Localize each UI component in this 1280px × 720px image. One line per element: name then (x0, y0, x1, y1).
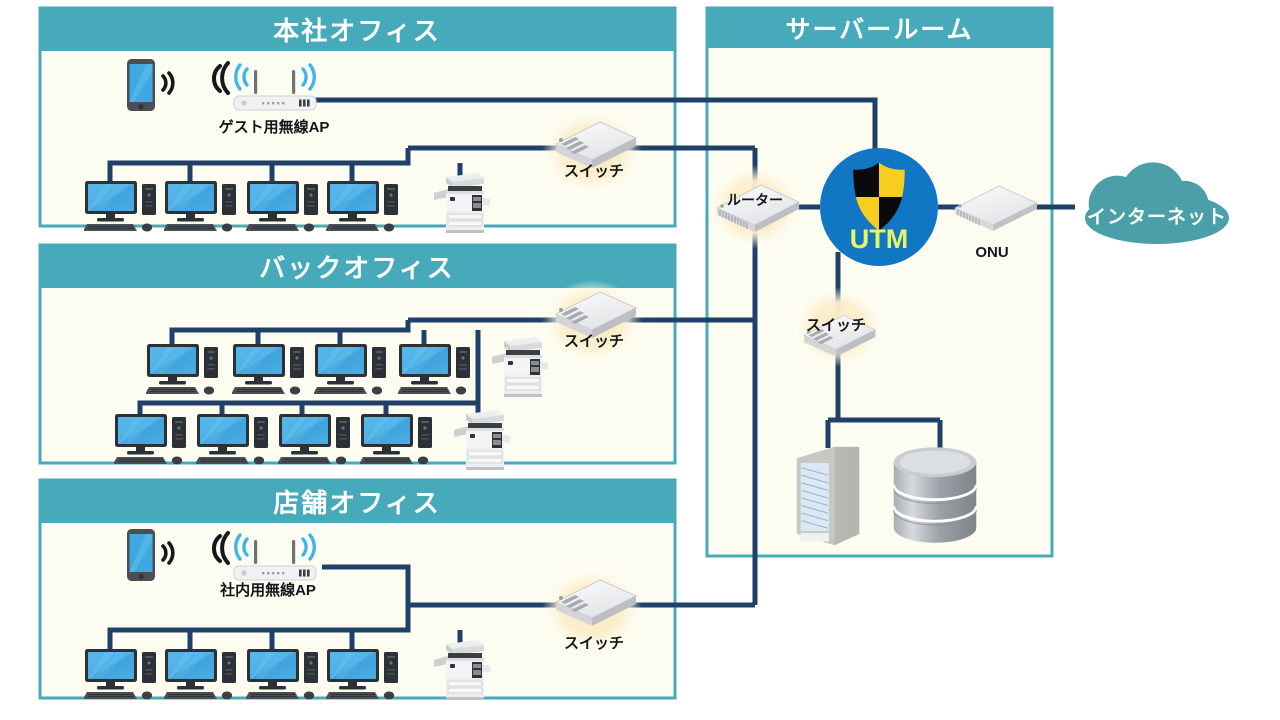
utm-label: UTM (850, 224, 908, 254)
server-room-body (707, 8, 1052, 556)
internet-label: インターネット (1087, 206, 1227, 228)
tenpo-title: 店舗オフィス (273, 488, 440, 518)
smartphone-icon (127, 59, 155, 111)
honsha-switch-label: スイッチ (564, 163, 624, 180)
tenpo-ap-label: 社内用無線AP (219, 581, 316, 599)
onu-label: ONU (975, 244, 1008, 261)
zone-server-room: サーバールーム (707, 8, 1052, 556)
database-icon (894, 447, 977, 543)
back-office-title: バックオフィス (259, 253, 454, 283)
tenpo-switch-label: スイッチ (564, 635, 624, 652)
honsha-title: 本社オフィス (273, 16, 440, 46)
server-rack-icon (797, 447, 859, 545)
server-room-title: サーバールーム (785, 16, 973, 44)
honsha-ap-label: ゲスト用無線AP (219, 118, 330, 136)
smartphone-icon (127, 529, 155, 581)
network-diagram: サーバールーム 本社オフィス バックオフィス 店舗オフィス (0, 0, 1280, 720)
server-room-switch-label: スイッチ (806, 317, 866, 334)
router-label: ルーター (727, 192, 783, 208)
back-office-switch-label: スイッチ (564, 333, 624, 350)
internet-cloud: インターネット (1085, 162, 1229, 244)
